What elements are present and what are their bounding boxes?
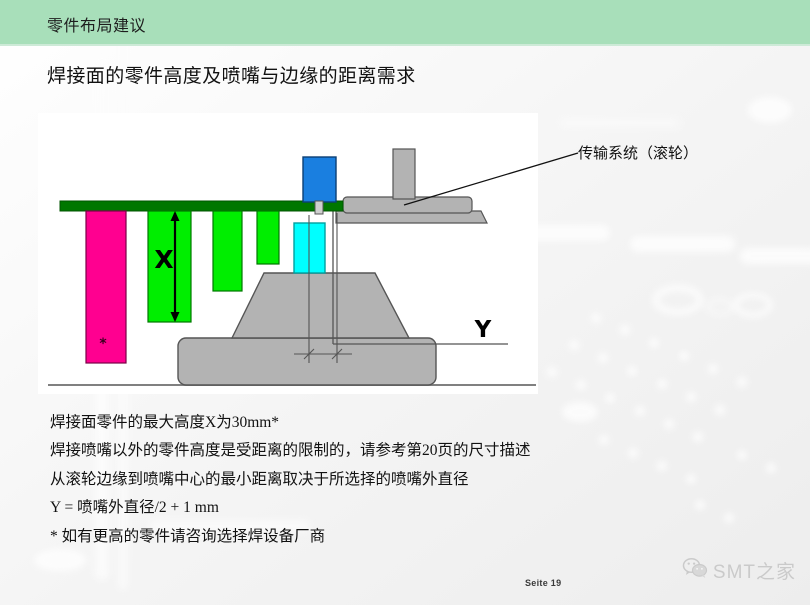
- page-title: 焊接面的零件高度及喷嘴与边缘的距离需求: [47, 61, 416, 88]
- body-line-2: 焊接喷嘴以外的零件高度是受距离的限制的，请参考第20页的尺寸描述: [50, 440, 700, 461]
- body-line-1: 焊接面零件的最大高度X为30mm*: [50, 412, 700, 433]
- dimension-y-label: Y: [474, 317, 492, 343]
- callout-label-transport-system: 传输系统（滚轮）: [578, 142, 698, 163]
- body-line-5: * 如有更高的零件请咨询选择焊设备厂商: [50, 526, 700, 547]
- svg-text:*: *: [99, 336, 107, 352]
- body-text-block: 焊接面零件的最大高度X为30mm* 焊接喷嘴以外的零件高度是受距离的限制的，请参…: [50, 412, 700, 554]
- body-line-3: 从滚轮边缘到喷嘴中心的最小距离取决于所选择的喷嘴外直径: [50, 469, 700, 490]
- wechat-icon: [682, 557, 708, 584]
- page-number: Seite 19: [525, 578, 561, 588]
- watermark-text: SMT之家: [713, 557, 796, 584]
- slide-canvas: 零件布局建议 焊接面的零件高度及喷嘴与边缘的距离需求 *: [0, 0, 810, 605]
- header-title: 零件布局建议: [47, 12, 146, 36]
- dimension-x-label: X: [154, 245, 173, 274]
- body-line-4: Y = 喷嘴外直径/2 + 1 mm: [50, 497, 700, 518]
- watermark-logo: SMT之家: [682, 557, 796, 584]
- header-divider: [0, 44, 810, 46]
- technical-diagram: * X Y: [38, 113, 538, 394]
